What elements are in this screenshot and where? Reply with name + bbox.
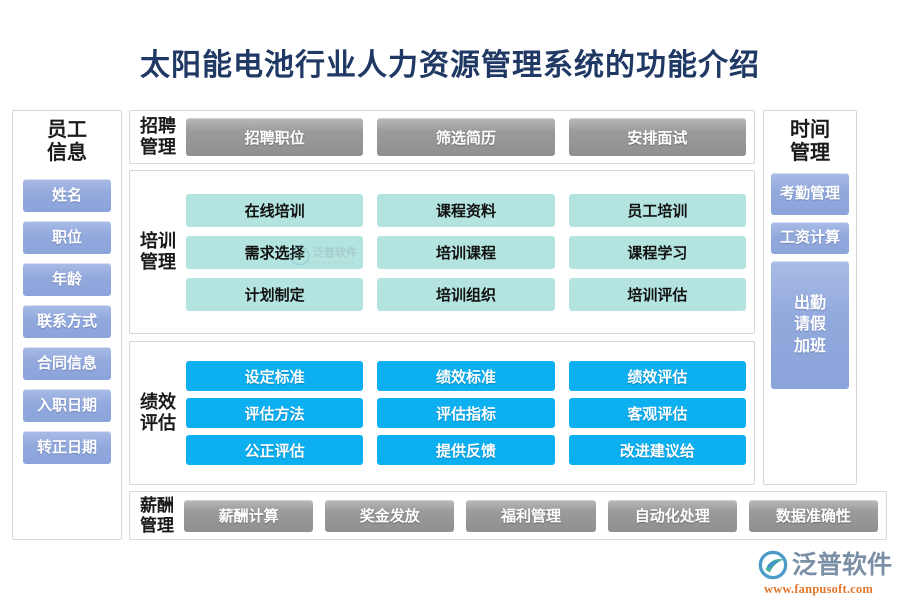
- sidebar-item-age[interactable]: 年龄: [23, 263, 111, 296]
- perf-item-set-standards[interactable]: 设定标准: [186, 361, 363, 391]
- recruit-item-interview-scheduling[interactable]: 安排面试: [569, 118, 746, 156]
- perf-item-evaluation-indicators[interactable]: 评估指标: [377, 398, 554, 428]
- training-label: 培训 管理: [136, 231, 180, 272]
- recruitment-label: 招聘 管理: [136, 116, 180, 157]
- compensation-grid: 薪酬计算 奖金发放 福利管理 自动化处理 数据准确性: [184, 500, 878, 532]
- brand-name: 泛普软件: [792, 553, 892, 578]
- brand-logo: 泛普软件 www.fanpusoft.com: [758, 550, 898, 594]
- compensation-label: 薪酬 管理: [136, 496, 178, 535]
- perf-item-fair-evaluation[interactable]: 公正评估: [186, 435, 363, 465]
- train-item-course-learning[interactable]: 课程学习: [569, 236, 746, 269]
- train-item-course-materials[interactable]: 课程资料: [377, 194, 554, 227]
- sidebar-item-attendance-leave-overtime[interactable]: 出勤 请假 加班: [771, 261, 849, 389]
- performance-section: 绩效 评估 设定标准 绩效标准 绩效评估 评估方法 评估指标 客观评估 公正评估…: [129, 341, 755, 485]
- sidebar-item-name[interactable]: 姓名: [23, 179, 111, 212]
- perf-item-provide-feedback[interactable]: 提供反馈: [377, 435, 554, 465]
- time-management-panel: 时间 管理 考勤管理 工资计算 出勤 请假 加班: [763, 110, 857, 485]
- recruit-item-job-posting[interactable]: 招聘职位: [186, 118, 363, 156]
- train-item-employee-training[interactable]: 员工培训: [569, 194, 746, 227]
- performance-label: 绩效 评估: [136, 392, 180, 433]
- perf-item-improvement-suggestions[interactable]: 改进建议给: [569, 435, 746, 465]
- salary-item-automated-processing[interactable]: 自动化处理: [608, 500, 737, 532]
- training-section: 培训 管理 在线培训 课程资料 员工培训 需求选择 培训课程 课程学习 计划制定…: [129, 170, 755, 334]
- train-item-needs-selection[interactable]: 需求选择: [186, 236, 363, 269]
- recruitment-grid: 招聘职位 筛选简历 安排面试: [186, 118, 746, 156]
- page-title: 太阳能电池行业人力资源管理系统的功能介绍: [0, 40, 900, 84]
- time-management-title: 时间 管理: [790, 111, 830, 165]
- sidebar-item-regular-date[interactable]: 转正日期: [23, 431, 111, 464]
- sidebar-item-contract[interactable]: 合同信息: [23, 347, 111, 380]
- train-item-training-organization[interactable]: 培训组织: [377, 278, 554, 311]
- salary-item-bonus-payout[interactable]: 奖金发放: [325, 500, 454, 532]
- recruit-item-resume-screening[interactable]: 筛选简历: [377, 118, 554, 156]
- salary-item-salary-calculation[interactable]: 薪酬计算: [184, 500, 313, 532]
- sidebar-item-contact[interactable]: 联系方式: [23, 305, 111, 338]
- sidebar-item-hire-date[interactable]: 入职日期: [23, 389, 111, 422]
- fanpu-logo-icon: [758, 550, 788, 580]
- performance-grid: 设定标准 绩效标准 绩效评估 评估方法 评估指标 客观评估 公正评估 提供反馈 …: [186, 361, 746, 465]
- perf-item-performance-standards[interactable]: 绩效标准: [377, 361, 554, 391]
- brand-url: www.fanpusoft.com: [764, 583, 898, 596]
- train-item-training-courses[interactable]: 培训课程: [377, 236, 554, 269]
- salary-item-benefits-management[interactable]: 福利管理: [466, 500, 595, 532]
- employee-info-title: 员工 信息: [47, 111, 87, 165]
- train-item-plan-making[interactable]: 计划制定: [186, 278, 363, 311]
- recruitment-section: 招聘 管理 招聘职位 筛选简历 安排面试: [129, 110, 755, 164]
- perf-item-performance-evaluation[interactable]: 绩效评估: [569, 361, 746, 391]
- sidebar-item-salary-calculation[interactable]: 工资计算: [771, 222, 849, 254]
- compensation-section: 薪酬 管理 薪酬计算 奖金发放 福利管理 自动化处理 数据准确性: [129, 491, 887, 540]
- perf-item-evaluation-methods[interactable]: 评估方法: [186, 398, 363, 428]
- infographic-root: 太阳能电池行业人力资源管理系统的功能介绍 员工 信息 姓名 职位 年龄 联系方式…: [0, 0, 900, 600]
- train-item-online-training[interactable]: 在线培训: [186, 194, 363, 227]
- brand-top-row: 泛普软件: [758, 550, 898, 580]
- salary-item-data-accuracy[interactable]: 数据准确性: [749, 500, 878, 532]
- perf-item-objective-evaluation[interactable]: 客观评估: [569, 398, 746, 428]
- training-grid: 在线培训 课程资料 员工培训 需求选择 培训课程 课程学习 计划制定 培训组织 …: [186, 194, 746, 311]
- train-item-training-evaluation[interactable]: 培训评估: [569, 278, 746, 311]
- employee-info-panel: 员工 信息 姓名 职位 年龄 联系方式 合同信息 入职日期 转正日期: [12, 110, 122, 540]
- sidebar-item-position[interactable]: 职位: [23, 221, 111, 254]
- sidebar-item-attendance-management[interactable]: 考勤管理: [771, 173, 849, 215]
